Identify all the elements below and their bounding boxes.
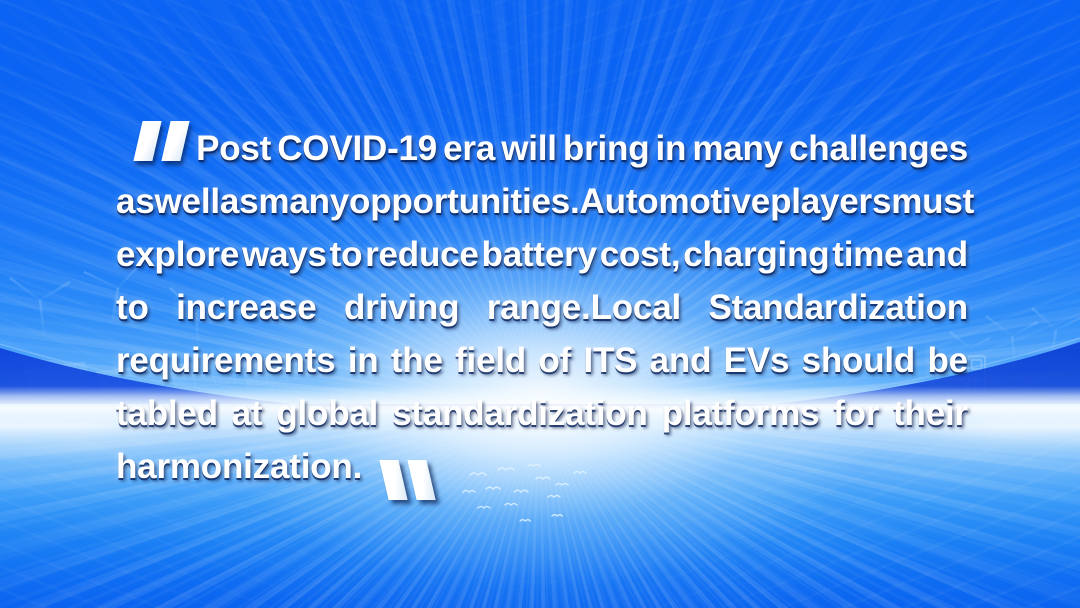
quote-word: many xyxy=(258,175,349,228)
quote-word: should xyxy=(802,334,916,387)
quote-line: harmonization. xyxy=(116,440,968,493)
ev-charger-icon xyxy=(968,356,985,394)
quote-word: to xyxy=(330,228,363,281)
quote-word: of xyxy=(538,334,571,387)
quote-word: be xyxy=(928,334,968,387)
quote-word: harmonization. xyxy=(116,440,362,493)
quote-word: the xyxy=(391,334,443,387)
quote-word: range.Local xyxy=(487,281,681,334)
quote-word: bring xyxy=(563,122,649,175)
quote-word: requirements xyxy=(116,334,335,387)
quote-word: in xyxy=(656,122,687,175)
quote-word: many xyxy=(692,122,783,175)
quote-word: Standardization xyxy=(708,281,968,334)
quote-word: charging xyxy=(683,228,829,281)
quote-word: driving xyxy=(344,281,459,334)
quote-word: platforms xyxy=(662,387,820,440)
quote-word: global xyxy=(276,387,378,440)
quote-word: Post xyxy=(196,122,271,175)
quote-word: and xyxy=(906,228,968,281)
quote-word: field xyxy=(455,334,526,387)
quote-word: to xyxy=(116,281,149,334)
quote-word: standardization xyxy=(392,387,648,440)
quote-word: players xyxy=(770,175,891,228)
quote-line: explorewaystoreducebatterycost,chargingt… xyxy=(116,228,968,281)
quote-line: tabledatglobalstandardizationplatformsfo… xyxy=(116,387,968,440)
quote-leading-indent xyxy=(116,122,190,175)
quote-word: battery xyxy=(482,228,597,281)
quote-word: as xyxy=(116,175,155,228)
quote-line: requirementsinthefieldofITSandEVsshouldb… xyxy=(116,334,968,387)
quote-word: ways xyxy=(242,228,327,281)
quote-word: tabled xyxy=(116,387,218,440)
quote-word: COVID-19 xyxy=(277,122,437,175)
quote-word: ITS xyxy=(583,334,637,387)
quote-word: in xyxy=(348,334,379,387)
quote-word: challenges xyxy=(789,122,968,175)
quote-text-block: PostCOVID-19erawillbringinmanychallenges… xyxy=(116,122,968,493)
quote-word: increase xyxy=(176,281,316,334)
quote-line: toincreasedrivingrange.LocalStandardizat… xyxy=(116,281,968,334)
quote-line: PostCOVID-19erawillbringinmanychallenges xyxy=(116,122,968,175)
quote-word: for xyxy=(833,387,879,440)
quote-slide: PostCOVID-19erawillbringinmanychallenges… xyxy=(0,0,1080,608)
quote-word: reduce xyxy=(365,228,479,281)
quote-word: time xyxy=(832,228,903,281)
quote-word: as xyxy=(220,175,259,228)
quote-word: and xyxy=(650,334,712,387)
quote-line: aswellasmanyopportunities.Automotiveplay… xyxy=(116,175,968,228)
quote-word: opportunities.Automotive xyxy=(349,175,770,228)
quote-word: EVs xyxy=(724,334,790,387)
quote-word: at xyxy=(232,387,263,440)
quote-word: their xyxy=(893,387,968,440)
wind-turbine-icon xyxy=(950,308,1080,394)
quote-word: era xyxy=(443,122,495,175)
quote-word: will xyxy=(501,122,557,175)
quote-word: must xyxy=(891,175,974,228)
quote-word: explore xyxy=(116,228,239,281)
quote-word: cost, xyxy=(600,228,681,281)
quote-word: well xyxy=(155,175,220,228)
